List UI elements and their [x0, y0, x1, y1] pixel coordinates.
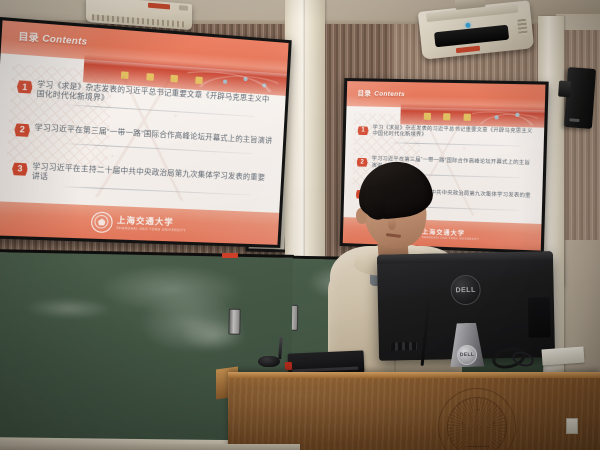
list-item-text: 学习《求是》杂志发表的习近平总书记重要文章《开辟马克思主义中国化时代化新境界》 — [372, 124, 536, 141]
list-item-number: 1 — [357, 126, 368, 135]
classroom-photo-scene: 目录Contents 1 学习《求是》杂志发表的习近平总书记重要文章《开辟马克思… — [0, 0, 600, 450]
wall-speaker — [564, 67, 596, 129]
projector-side-vent — [517, 19, 528, 36]
list-item-text: 学习《求是》杂志发表的习近平总书记重要文章《开辟马克思主义中国化时代化新境界》 — [36, 79, 275, 113]
sjtu-seal-icon — [90, 211, 113, 233]
presenter-nose — [388, 218, 396, 230]
microphone-base[interactable] — [258, 356, 280, 367]
projector-lens — [434, 25, 509, 48]
slide-header-cn: 目录 — [18, 31, 39, 43]
baseboard — [0, 444, 300, 450]
wooden-podium — [228, 372, 600, 450]
dell-wordmark: DELL — [455, 286, 475, 293]
sjtu-seal-engraving-icon — [438, 388, 516, 450]
projection-screen-left: 目录Contents 1 学习《求是》杂志发表的习近平总书记重要文章《开辟马克思… — [0, 17, 292, 248]
projector-power-led — [465, 23, 470, 28]
list-item: 1 学习《求是》杂志发表的习近平总书记重要文章《开辟马克思主义中国化时代化新境界… — [357, 124, 536, 141]
wall-outlet — [566, 418, 578, 434]
acoustic-slat-wall-far-right — [560, 30, 600, 240]
slide-header-cn: 目录 — [357, 90, 371, 97]
list-item-divider — [62, 143, 252, 154]
list-item: 2 学习习近平在第三届“一带一路”国际合作高峰论坛开幕式上的主旨演讲 — [14, 121, 273, 150]
dell-monitor[interactable]: DELL DELL — [377, 251, 555, 361]
monitor-rear-panel — [528, 297, 551, 337]
speaker-label — [569, 118, 579, 122]
list-item-number: 1 — [17, 80, 33, 94]
list-item-text: 学习习近平在第三届“一带一路”国际合作高峰论坛开幕式上的主旨演讲 — [34, 122, 272, 145]
list-item-number: 2 — [356, 158, 367, 167]
stand-wordmark: DELL — [460, 352, 474, 358]
board-trim-tab — [222, 253, 238, 258]
projector-brand-badge — [148, 3, 170, 10]
list-item-divider — [389, 142, 521, 146]
slide-left: 目录Contents 1 学习《求是》杂志发表的习近平总书记重要文章《开辟马克思… — [0, 20, 289, 245]
list-item: 1 学习《求是》杂志发表的习近平总书记重要文章《开辟马克思主义中国化时代化新境界… — [16, 78, 275, 113]
board-clip — [291, 305, 298, 331]
list-item-number: 3 — [12, 162, 28, 175]
board-clip — [228, 309, 240, 335]
slide-header-en: Contents — [374, 90, 405, 98]
speaker-bracket — [558, 81, 571, 98]
slide-contents-list: 1 学习《求是》杂志发表的习近平总书记重要文章《开辟马克思主义中国化时代化新境界… — [0, 59, 287, 209]
papers-on-lectern — [541, 347, 584, 366]
podium-top-edge — [228, 372, 600, 378]
list-item-number: 2 — [14, 123, 30, 137]
projector-logo — [456, 46, 480, 53]
projector-label-plate — [179, 5, 188, 11]
laptop-indicator — [285, 362, 293, 370]
monitor-ports — [391, 342, 417, 351]
list-item: 3 学习习近平在主持二十届中共中央政治局第九次集体学习发表的重要讲话 — [12, 160, 271, 191]
slide-header-title: 目录Contents — [357, 87, 405, 98]
slide-header-en: Contents — [42, 33, 88, 47]
dell-logo-icon: DELL — [450, 275, 481, 306]
slide-footer: 上海交通大学 SHANGHAI JIAO TONG UNIVERSITY — [0, 201, 279, 245]
